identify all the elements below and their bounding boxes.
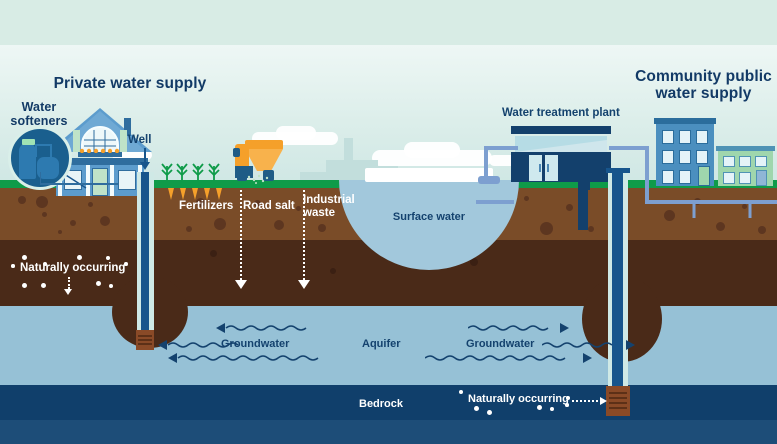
mineral-dot (96, 281, 101, 286)
fertilizer-carrot (204, 188, 210, 200)
building-window (662, 170, 674, 184)
well-screen-slot (138, 335, 152, 337)
soil-speck (42, 212, 47, 217)
naturally-occurring-soil-arrow (64, 289, 72, 295)
community-well-pipe (612, 170, 623, 410)
groundwater-flow-right-lower (425, 352, 593, 364)
plant-window-glare (515, 136, 607, 152)
community-title-line2: water supply (630, 85, 777, 102)
building-window (739, 156, 751, 167)
building-window (739, 172, 751, 184)
plant-body (511, 152, 611, 182)
well-screen-slot (609, 397, 627, 399)
truck-cab-window (233, 148, 240, 157)
soil-speck (296, 206, 301, 211)
soil-speck (36, 196, 48, 208)
fertilizer-carrot (168, 188, 174, 200)
mineral-dot-bedrock (487, 410, 492, 415)
road-salt-label: Road salt (243, 200, 295, 212)
fertilizer-carrot (180, 188, 186, 200)
soil-speck (100, 216, 110, 226)
groundwater-label-left: Groundwater (221, 338, 289, 350)
building-window (755, 156, 767, 167)
soil-speck (18, 196, 26, 204)
well-screen-slot (609, 392, 627, 394)
fertilizer-path-arrow (235, 280, 247, 289)
mineral-dot-bedrock (566, 396, 570, 400)
cloud-mid-bump (404, 142, 460, 158)
plant-roof (511, 126, 611, 134)
well-label: Well (128, 134, 178, 146)
city-service-pipes (660, 196, 777, 224)
aquifer-label: Aquifer (362, 338, 401, 350)
water-softeners-line1: Water (0, 100, 78, 114)
sky-upper-band (0, 0, 777, 45)
building-window (679, 150, 691, 164)
mineral-dot (22, 283, 27, 288)
crop-row (160, 158, 222, 182)
building-window (679, 130, 691, 144)
soil-speck (274, 220, 284, 230)
naturally-occurring-bedrock-arrow (600, 397, 607, 405)
well-arrow-down (139, 148, 151, 172)
soil-speck-deep (330, 268, 336, 274)
bedrock-label: Bedrock (359, 398, 403, 410)
mineral-dot-bedrock (537, 405, 542, 410)
private-well-screen (136, 330, 154, 350)
soil-speck (588, 226, 594, 232)
city-building-green (718, 146, 773, 186)
service-pipe-underground-left (476, 196, 516, 210)
mineral-dot-bedrock (550, 407, 554, 411)
softener-house-pipe (40, 168, 120, 190)
soil-speck (566, 204, 573, 211)
plant-door-handle-left (539, 164, 541, 172)
building-window (696, 150, 708, 164)
plant-riser-pipe-deep (578, 188, 588, 230)
road-salt-truck (233, 140, 285, 182)
soil-speck (88, 202, 93, 207)
private-supply-title: Private water supply (18, 75, 242, 92)
mineral-dot-bedrock (474, 406, 479, 411)
mineral-dot (43, 262, 47, 266)
naturally-occurring-soil-path (68, 277, 70, 289)
mineral-dot (22, 255, 27, 260)
community-supply-title: Community public water supply (630, 68, 777, 102)
private-well-pipe (141, 172, 149, 350)
well-screen-slot (609, 407, 627, 409)
naturally-occurring-bedrock-path (572, 400, 602, 402)
well-screen-slot (138, 339, 152, 341)
softener-control-panel (22, 139, 35, 145)
mineral-dot-bedrock (565, 403, 569, 407)
salt-spray (247, 174, 269, 184)
groundwater-infographic: Surface water (0, 0, 777, 444)
industrial-waste-line1: Industrial (303, 194, 355, 207)
industrial-waste-label: Industrial waste (303, 194, 355, 220)
softener-piping (35, 141, 57, 161)
road-salt-path-arrow (298, 280, 310, 289)
well-screen-slot (609, 402, 627, 404)
soil-speck (70, 220, 76, 226)
softener-tank-large (19, 143, 36, 179)
groundwater-flow-left-upper (216, 322, 320, 334)
community-title-line1: Community public (630, 68, 777, 85)
mineral-dot (124, 262, 128, 266)
community-well-screen (606, 386, 630, 416)
attic-shutter-right (120, 130, 127, 152)
soil-speck (540, 222, 553, 235)
plant-door-left (528, 154, 543, 182)
groundwater-flow-right-upper (468, 322, 570, 334)
fertilizers-label: Fertilizers (179, 200, 233, 212)
building-window (662, 130, 674, 144)
building-blue-door (698, 166, 710, 186)
fertilizer-carrot (192, 188, 198, 200)
water-softeners-label: Water softeners (0, 100, 78, 128)
house-window-right (118, 170, 136, 190)
soil-speck (524, 196, 529, 201)
water-treatment-plant (511, 126, 611, 182)
groundwater-flow-right-mid (542, 339, 636, 351)
fertilizer-path-line (240, 190, 242, 280)
soil-speck (58, 230, 62, 234)
building-window (679, 170, 691, 184)
naturally-occurring-bedrock-label: Naturally occurring (468, 393, 569, 405)
mineral-dot (41, 283, 46, 288)
mineral-dot-bedrock (459, 390, 463, 394)
building-window (696, 130, 708, 144)
groundwater-label-right: Groundwater (466, 338, 534, 350)
industrial-waste-line2: waste (303, 207, 355, 220)
groundwater-flow-left-lower (168, 352, 334, 364)
community-well-head (606, 168, 630, 173)
plant-door-handle-right (547, 164, 549, 172)
bedrock-layer-lower (0, 420, 777, 444)
cloud-left-bump (276, 126, 316, 140)
soil-speck (186, 226, 192, 232)
naturally-occurring-soil-label: Naturally occurring (20, 262, 125, 274)
surface-water-highlight (365, 168, 493, 182)
city-building-blue (656, 118, 714, 186)
plant-side-tank (478, 176, 500, 184)
surface-water-label: Surface water (339, 211, 519, 223)
building-window (723, 172, 735, 184)
soil-speck (758, 226, 766, 234)
soil-speck (214, 218, 226, 230)
water-treatment-plant-label: Water treatment plant (502, 107, 620, 119)
mineral-dot (106, 256, 110, 260)
soil-speck (318, 224, 326, 232)
well-screen-slot (138, 343, 152, 345)
mineral-dot (109, 284, 113, 288)
soil-speck-deep (210, 250, 217, 257)
fertilizer-carrot (216, 188, 222, 200)
building-window (662, 150, 674, 164)
truck-wheel-front (237, 172, 247, 181)
mineral-dot (11, 264, 15, 268)
building-window (723, 156, 735, 167)
mineral-dot (77, 255, 82, 260)
building-green-door (756, 170, 767, 186)
